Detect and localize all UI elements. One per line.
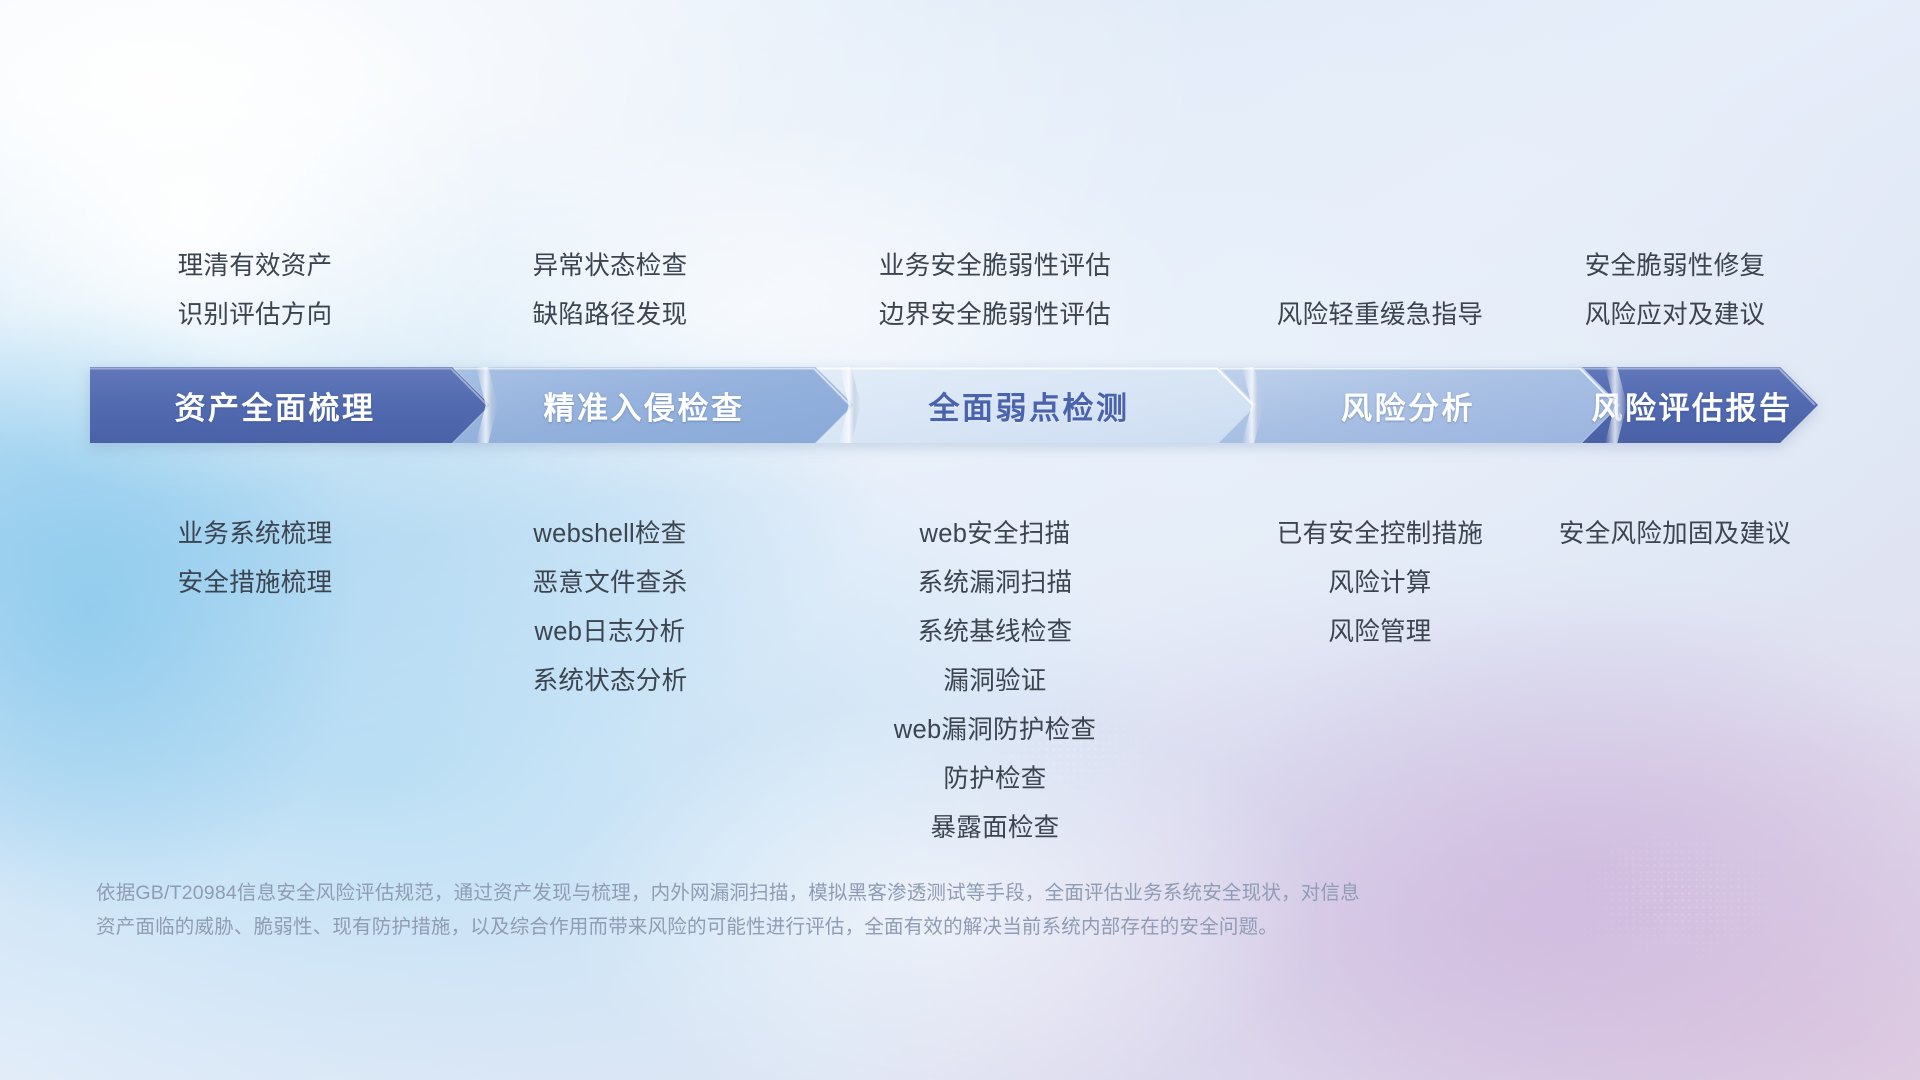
list-item: 风险轻重缓急指导 — [1190, 291, 1570, 340]
list-item: 漏洞验证 — [795, 657, 1195, 706]
stage-inputs-asset-inventory: 理清有效资产 识别评估方向 — [90, 230, 420, 340]
stage-inputs-intrusion-check: 异常状态检查 缺陷路径发现 — [445, 230, 775, 340]
list-item: web日志分析 — [445, 608, 775, 657]
list-item: 安全措施梳理 — [90, 559, 420, 608]
list-item: 风险应对及建议 — [1515, 291, 1835, 340]
list-item: 风险管理 — [1190, 608, 1570, 657]
list-item: 识别评估方向 — [90, 291, 420, 340]
list-item: 系统状态分析 — [445, 657, 775, 706]
list-item: 恶意文件查杀 — [445, 559, 775, 608]
stage-outputs-risk-analysis: 已有安全控制措施 风险计算 风险管理 — [1190, 510, 1570, 657]
list-item: 边界安全脆弱性评估 — [795, 291, 1195, 340]
process-chevron-band: 资产全面梳理 精准入侵检查 — [90, 367, 1818, 443]
footnote-line-2: 资产面临的威胁、脆弱性、现有防护措施，以及综合作用而带来风险的可能性进行评估，全… — [96, 910, 1656, 944]
chevron-caption: 风险分析 — [1341, 383, 1475, 428]
chevron-caption: 风险评估报告 — [1592, 383, 1793, 428]
list-item: 业务安全脆弱性评估 — [795, 242, 1195, 291]
list-item: 系统基线检查 — [795, 608, 1195, 657]
list-item: 缺陷路径发现 — [445, 291, 775, 340]
list-item: 已有安全控制措施 — [1190, 510, 1570, 559]
list-item: 系统漏洞扫描 — [795, 559, 1195, 608]
list-item: 暴露面检查 — [795, 804, 1195, 853]
chevron-stage-weakness-detection[interactable]: 全面弱点检测 — [816, 367, 1256, 443]
chevron-stage-risk-analysis[interactable]: 风险分析 — [1219, 367, 1619, 443]
list-item: 业务系统梳理 — [90, 510, 420, 559]
list-item: web漏洞防护检查 — [795, 706, 1195, 755]
list-item: 安全风险加固及建议 — [1515, 510, 1835, 559]
chevron-stage-risk-report[interactable]: 风险评估报告 — [1582, 367, 1818, 443]
stage-outputs-weakness-detection: web安全扫描 系统漏洞扫描 系统基线检查 漏洞验证 web漏洞防护检查 防护检… — [795, 510, 1195, 853]
diagram-canvas: 理清有效资产 识别评估方向 业务系统梳理 安全措施梳理 异常状态检查 缺陷路径发… — [0, 0, 1920, 1080]
stage-outputs-risk-report: 安全风险加固及建议 — [1515, 510, 1835, 559]
chevron-caption: 全面弱点检测 — [929, 383, 1130, 428]
stage-outputs-asset-inventory: 业务系统梳理 安全措施梳理 — [90, 510, 420, 608]
list-item: 防护检查 — [795, 755, 1195, 804]
chevron-stage-intrusion-check[interactable]: 精准入侵检查 — [453, 367, 853, 443]
stage-inputs-risk-analysis: 风险轻重缓急指导 — [1190, 255, 1570, 340]
stage-outputs-intrusion-check: webshell检查 恶意文件查杀 web日志分析 系统状态分析 — [445, 510, 775, 706]
list-item: webshell检查 — [445, 510, 775, 559]
footnote-paragraph: 依据GB/T20984信息安全风险评估规范，通过资产发现与梳理，内外网漏洞扫描，… — [96, 876, 1656, 944]
chevron-stage-asset-inventory[interactable]: 资产全面梳理 — [90, 367, 490, 443]
footnote-line-1: 依据GB/T20984信息安全风险评估规范，通过资产发现与梳理，内外网漏洞扫描，… — [96, 876, 1656, 910]
list-item: 理清有效资产 — [90, 242, 420, 291]
list-item: 异常状态检查 — [445, 242, 775, 291]
chevron-caption: 资产全面梳理 — [175, 383, 376, 428]
chevron-caption: 精准入侵检查 — [544, 383, 745, 428]
list-item: 安全脆弱性修复 — [1515, 242, 1835, 291]
list-item: 风险计算 — [1190, 559, 1570, 608]
stage-inputs-weakness-detection: 业务安全脆弱性评估 边界安全脆弱性评估 — [795, 230, 1195, 340]
stage-inputs-risk-report: 安全脆弱性修复 风险应对及建议 — [1515, 230, 1835, 340]
list-item: web安全扫描 — [795, 510, 1195, 559]
